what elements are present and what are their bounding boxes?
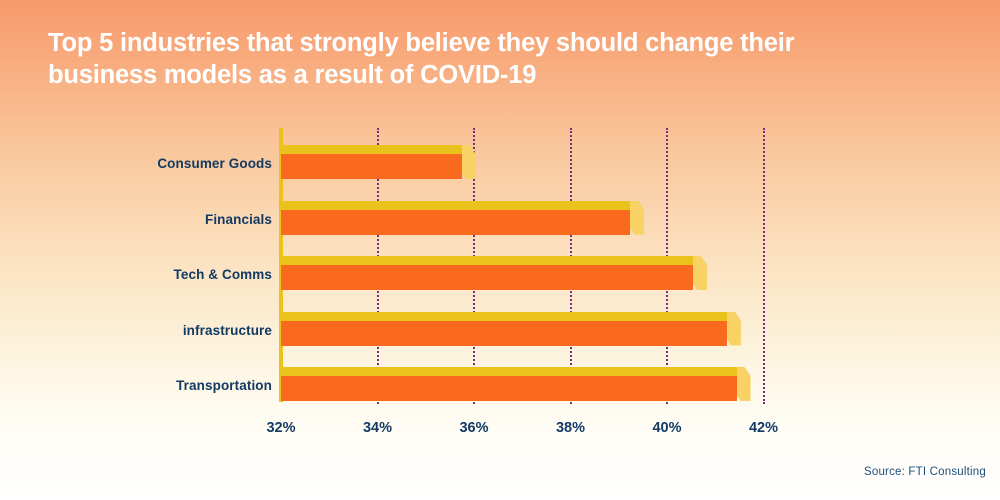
- bar-end-cap: [725, 312, 741, 346]
- bar-end-cap: [735, 367, 751, 401]
- gridline-42: [763, 128, 765, 404]
- bar-front-face: [281, 376, 737, 401]
- bar-front-face: [281, 321, 727, 346]
- bar[interactable]: [281, 201, 644, 235]
- bar[interactable]: [281, 312, 741, 346]
- category-label: Transportation: [12, 378, 272, 393]
- x-tick-label: 40%: [627, 420, 707, 436]
- category-label: infrastructure: [12, 323, 272, 338]
- bar-front-face: [281, 154, 462, 179]
- infographic-poster: Top 5 industries that strongly believe t…: [0, 0, 1000, 500]
- bar-front-face: [281, 210, 630, 235]
- category-label: Tech & Comms: [12, 267, 272, 282]
- x-tick-label: 36%: [434, 420, 514, 436]
- x-tick-label: 42%: [724, 420, 804, 436]
- x-tick-label: 32%: [241, 420, 321, 436]
- bar-top-face: [281, 367, 737, 376]
- bar[interactable]: [281, 256, 707, 290]
- bar-front-face: [281, 265, 693, 290]
- bar-top-face: [281, 145, 462, 154]
- bar-end-cap: [691, 256, 707, 290]
- source-caption: Source: FTI Consulting: [864, 466, 986, 478]
- bar-top-face: [281, 201, 630, 210]
- x-tick-label: 34%: [338, 420, 418, 436]
- bar[interactable]: [281, 145, 476, 179]
- bar[interactable]: [281, 367, 751, 401]
- bar-chart: Consumer GoodsFinancialsTech & Commsinfr…: [0, 0, 1000, 500]
- bar-end-cap: [628, 201, 644, 235]
- bar-top-face: [281, 256, 693, 265]
- bar-end-cap: [460, 145, 476, 179]
- bar-top-face: [281, 312, 727, 321]
- category-label: Consumer Goods: [12, 156, 272, 171]
- x-tick-label: 38%: [531, 420, 611, 436]
- category-label: Financials: [12, 212, 272, 227]
